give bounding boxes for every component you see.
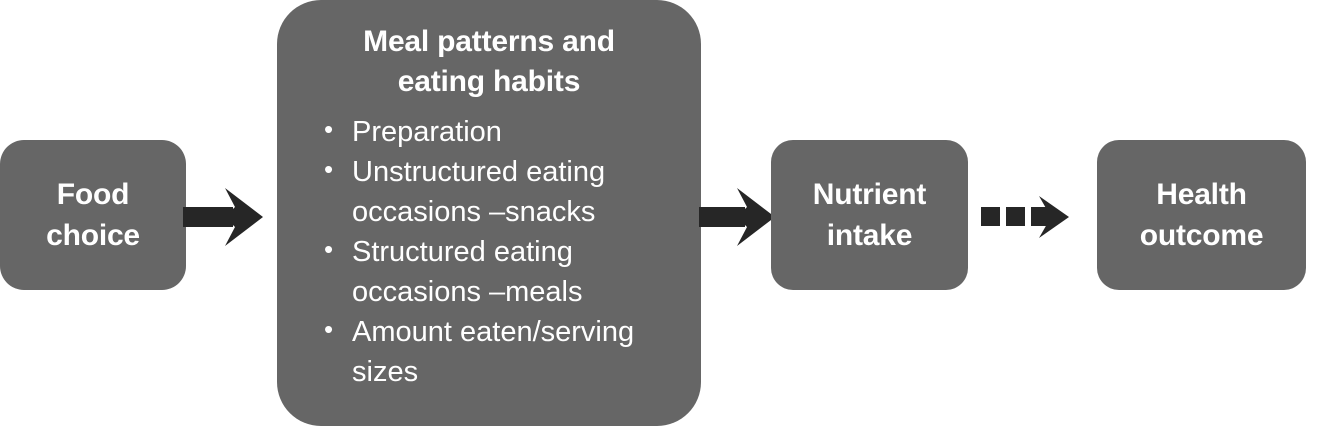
arrow-nutrient-intake-to-health-outcome	[981, 196, 1071, 238]
node-meal-patterns-bullet-list: Preparation Unstructured eating occasion…	[277, 112, 701, 392]
solid-arrow-icon	[699, 186, 777, 248]
node-nutrient-intake-label: Nutrient intake	[813, 174, 926, 257]
node-health-outcome[interactable]: Health outcome	[1097, 140, 1306, 290]
list-item: Unstructured eating occasions –snacks	[319, 152, 693, 232]
node-food-choice[interactable]: Food choice	[0, 140, 186, 290]
dashed-arrow-icon	[981, 196, 1071, 238]
list-item: Structured eating occasions –meals	[319, 232, 693, 312]
node-health-outcome-label: Health outcome	[1140, 174, 1264, 257]
solid-arrow-icon	[183, 186, 265, 248]
list-item: Amount eaten/serving sizes	[319, 312, 693, 392]
node-meal-patterns[interactable]: Meal patterns and eating habits Preparat…	[277, 0, 701, 426]
list-item: Preparation	[319, 112, 693, 152]
arrow-meal-patterns-to-nutrient-intake	[699, 186, 777, 248]
flow-diagram: Food choice Meal patterns and eating hab…	[0, 0, 1321, 429]
node-nutrient-intake[interactable]: Nutrient intake	[771, 140, 968, 290]
arrow-food-choice-to-meal-patterns	[183, 186, 265, 248]
node-meal-patterns-title: Meal patterns and eating habits	[363, 22, 615, 102]
node-food-choice-label: Food choice	[46, 174, 140, 257]
